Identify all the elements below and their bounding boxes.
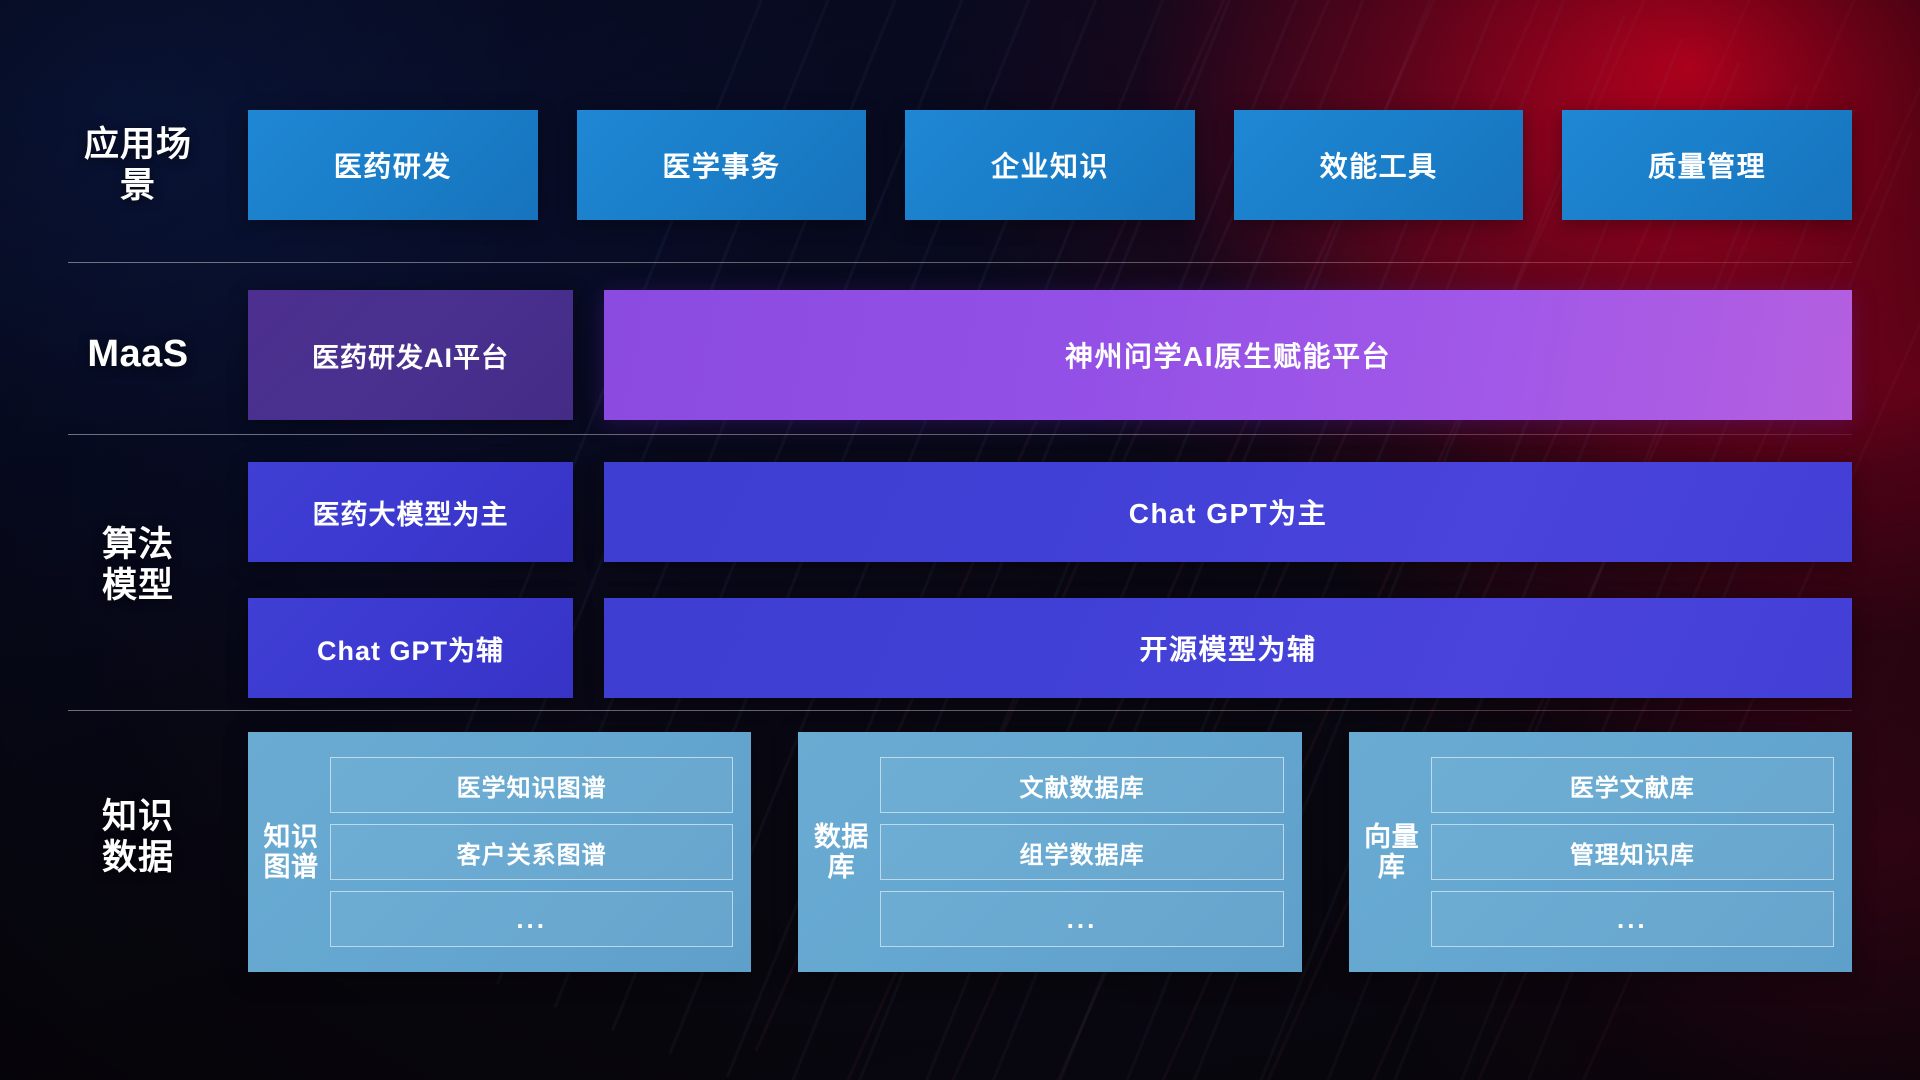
algo-card-label: Chat GPT为主: [1129, 492, 1328, 532]
maas-card-label: 医药研发AI平台: [312, 336, 509, 375]
app-card-label: 企业知识: [991, 145, 1109, 185]
algo-line-primary: 医药大模型为主 Chat GPT为主: [0, 462, 1920, 562]
knowledge-item-label: ...: [1067, 904, 1098, 935]
knowledge-item-customer-relation-graph[interactable]: 客户关系图谱: [330, 824, 733, 880]
knowledge-group-items: 文献数据库 组学数据库 ...: [880, 757, 1283, 947]
knowledge-item-label: 组学数据库: [1019, 835, 1144, 870]
algo-card-label: Chat GPT为辅: [317, 629, 504, 668]
app-card-medical-affairs[interactable]: 医学事务: [577, 110, 867, 220]
row-algorithm-models: 算法模型 医药大模型为主 Chat GPT为主 Chat GPT为辅 开源模型为…: [0, 462, 1920, 698]
row-label-maas: MaaS: [68, 332, 208, 377]
knowledge-group-database[interactable]: 数据库 文献数据库 组学数据库 ...: [798, 732, 1301, 972]
knowledge-item-more[interactable]: ...: [330, 891, 733, 947]
diagram-stage: 应用场景 医药研发 医学事务 企业知识 效能工具 质量管理: [0, 0, 1920, 1080]
diagram-content: 应用场景 医药研发 医学事务 企业知识 效能工具 质量管理: [0, 0, 1920, 1080]
knowledge-item-label: 医学文献库: [1570, 768, 1695, 803]
algo-card-label: 开源模型为辅: [1139, 628, 1316, 668]
app-card-enterprise-knowledge[interactable]: 企业知识: [905, 110, 1195, 220]
algo-card-chatgpt-secondary[interactable]: Chat GPT为辅: [248, 598, 573, 698]
app-card-label: 质量管理: [1648, 145, 1766, 185]
knowledge-group-title: 知识图谱: [262, 822, 320, 882]
knowledge-item-label: 医学知识图谱: [457, 768, 607, 803]
application-scenario-cards: 医药研发 医学事务 企业知识 效能工具 质量管理: [248, 110, 1852, 220]
row-label-knowledge-data: 知识数据: [88, 796, 188, 879]
algo-card-opensource-secondary[interactable]: 开源模型为辅: [604, 598, 1852, 698]
knowledge-group-knowledge-graph[interactable]: 知识图谱 医学知识图谱 客户关系图谱 ...: [248, 732, 751, 972]
knowledge-item-label: ...: [516, 904, 547, 935]
knowledge-item-label: ...: [1617, 904, 1648, 935]
app-card-medicine-rnd[interactable]: 医药研发: [248, 110, 538, 220]
maas-card-label: 神州问学AI原生赋能平台: [1065, 335, 1391, 375]
knowledge-group-items: 医学文献库 管理知识库 ...: [1431, 757, 1834, 947]
knowledge-item-literature-database[interactable]: 文献数据库: [880, 757, 1283, 813]
knowledge-group-title: 数据库: [812, 822, 870, 882]
knowledge-item-medical-knowledge-graph[interactable]: 医学知识图谱: [330, 757, 733, 813]
knowledge-item-label: 客户关系图谱: [457, 835, 607, 870]
knowledge-item-omics-database[interactable]: 组学数据库: [880, 824, 1283, 880]
knowledge-item-more[interactable]: ...: [1431, 891, 1834, 947]
row-label-application-scenarios: 应用场景: [68, 124, 208, 207]
row-maas: MaaS 医药研发AI平台 神州问学AI原生赋能平台: [0, 290, 1920, 420]
divider-apps-maas: [68, 262, 1852, 263]
app-card-label: 医学事务: [662, 145, 780, 185]
algo-card-chatgpt-primary[interactable]: Chat GPT为主: [604, 462, 1852, 562]
row-knowledge-data: 知识数据 知识图谱 医学知识图谱 客户关系图谱 ...: [0, 732, 1920, 972]
app-card-label: 医药研发: [334, 145, 452, 185]
knowledge-item-more[interactable]: ...: [880, 891, 1283, 947]
knowledge-group-items: 医学知识图谱 客户关系图谱 ...: [330, 757, 733, 947]
knowledge-item-label: 文献数据库: [1019, 768, 1144, 803]
knowledge-item-medical-literature-store[interactable]: 医学文献库: [1431, 757, 1834, 813]
maas-card-medicine-rnd-ai-platform[interactable]: 医药研发AI平台: [248, 290, 573, 420]
knowledge-groups: 知识图谱 医学知识图谱 客户关系图谱 ... 数据库: [248, 732, 1852, 972]
algo-card-medicine-large-model-primary[interactable]: 医药大模型为主: [248, 462, 573, 562]
knowledge-item-management-knowledge-store[interactable]: 管理知识库: [1431, 824, 1834, 880]
knowledge-group-title: 向量库: [1363, 822, 1421, 882]
divider-algo-knowledge: [68, 710, 1852, 711]
algo-line-secondary: Chat GPT为辅 开源模型为辅: [0, 598, 1920, 698]
knowledge-group-vector-store[interactable]: 向量库 医学文献库 管理知识库 ...: [1349, 732, 1852, 972]
maas-card-shenzhou-wenxue-platform[interactable]: 神州问学AI原生赋能平台: [604, 290, 1852, 420]
knowledge-item-label: 管理知识库: [1570, 835, 1695, 870]
app-card-label: 效能工具: [1320, 145, 1438, 185]
app-card-efficiency-tools[interactable]: 效能工具: [1234, 110, 1524, 220]
divider-maas-algo: [68, 434, 1852, 435]
app-card-quality-management[interactable]: 质量管理: [1562, 110, 1852, 220]
row-application-scenarios: 应用场景 医药研发 医学事务 企业知识 效能工具 质量管理: [0, 110, 1920, 220]
algo-card-label: 医药大模型为主: [313, 493, 509, 532]
